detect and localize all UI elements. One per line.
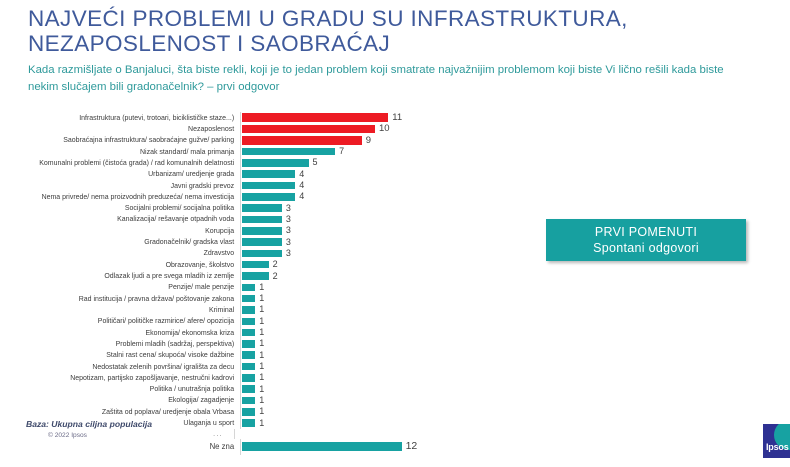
bar-row: Zaštita od poplava/ uredjenje obala Vrba… [0, 406, 560, 417]
bar-track: 3 [240, 214, 560, 225]
bar-value: 1 [259, 339, 264, 348]
bar-track: 1 [240, 384, 560, 395]
bar-track: 2 [240, 270, 560, 281]
bar-row: Urbanizam/ uredjenje grada4 [0, 169, 560, 180]
bar-track: 9 [240, 135, 560, 146]
bar-row: Nepotizam, partijsko zapošljavanje, nest… [0, 372, 560, 383]
bar-value: 1 [259, 283, 264, 292]
bar-track: 1 [240, 350, 560, 361]
bar-fill [242, 216, 282, 224]
bar-value: 4 [299, 192, 304, 201]
bar-row: Ekonomija/ ekonomska kriza1 [0, 327, 560, 338]
bar-label: Ekonomija/ ekonomska kriza [7, 329, 240, 337]
bar-fill [242, 261, 269, 269]
bar-label: Korupcija [7, 227, 240, 235]
bar-value: 10 [379, 124, 390, 133]
bar-row: Kriminal1 [0, 304, 560, 315]
bar-label: Zdravstvo [7, 249, 240, 257]
bar-row: Kanalizacija/ rešavanje otpadnih voda3 [0, 214, 560, 225]
bar-track: 3 [240, 225, 560, 236]
bar-value: 1 [259, 294, 264, 303]
bar-row: Komunalni problemi (čistoća grada) / rad… [0, 157, 560, 168]
bar-fill [242, 125, 375, 134]
bar-row: Stalni rast cena/ skupoća/ visoke dažbin… [0, 350, 560, 361]
bar-fill [242, 250, 282, 258]
slide-header: NAJVEĆI PROBLEMI U GRADU SU INFRASTRUKTU… [28, 6, 768, 96]
bar-value: 4 [299, 181, 304, 190]
bar-label: Kriminal [7, 306, 240, 314]
copyright-note: © 2022 Ipsos [48, 432, 152, 439]
bar-value: 1 [259, 362, 264, 371]
bar-value: 1 [259, 419, 264, 428]
bar-row: Gradonačelnik/ gradska vlast3 [0, 236, 560, 247]
bar-value: 12 [406, 442, 418, 451]
bar-fill [242, 148, 335, 156]
base-note: Baza: Ukupna ciljna populacija [26, 419, 152, 429]
bar-label: Infrastruktura (putevi, trotoari, bicikl… [7, 114, 240, 122]
bar-label: Penzije/ male penzije [7, 283, 240, 291]
bar-label: Nema privrede/ nema proizvodnih preduzeć… [7, 193, 240, 201]
bar-row: Obrazovanje, školstvo2 [0, 259, 560, 270]
bar-track: 1 [240, 372, 560, 383]
bar-row: Rad institucija / pravna država/ poštova… [0, 293, 560, 304]
bar-value: 3 [286, 204, 291, 213]
bar-row: Nema privrede/ nema proizvodnih preduzeć… [0, 191, 560, 202]
bar-track: 5 [240, 157, 560, 168]
bar-value: 2 [273, 260, 278, 269]
bar-track: 1 [240, 316, 560, 327]
bar-row: Infrastruktura (putevi, trotoari, bicikl… [0, 112, 560, 123]
bar-fill [242, 272, 269, 280]
bar-track: 3 [240, 236, 560, 247]
bar-label: Saobraćajna infrastruktura/ saobraćajne … [7, 136, 240, 144]
bar-track: 11 [240, 112, 560, 123]
bar-value: 11 [392, 113, 402, 122]
bar-value: 1 [259, 407, 264, 416]
bar-label: Nizak standard/ mala primanja [7, 148, 240, 156]
bar-track: 1 [240, 293, 560, 304]
bar-fill [242, 113, 388, 122]
bar-row: Problemi mladih (sadržaj, perspektiva)1 [0, 338, 560, 349]
bar-value: 1 [259, 396, 264, 405]
callout-line-2: Spontani odgovori [593, 240, 699, 256]
bar-label: Javni gradski prevoz [7, 182, 240, 190]
bar-label: Nepotizam, partijsko zapošljavanje, nest… [7, 374, 240, 382]
bar-fill [242, 340, 255, 348]
bar-track: 1 [240, 338, 560, 349]
bar-track: 12 [240, 439, 560, 455]
bar-label: Gradonačelnik/ gradska vlast [7, 238, 240, 246]
bar-label: Obrazovanje, školstvo [7, 261, 240, 269]
bar-fill [242, 329, 255, 337]
bar-value: 2 [273, 272, 278, 281]
bar-fill [242, 193, 295, 201]
bar-fill [242, 182, 295, 190]
bar-track: 7 [240, 146, 560, 157]
bar-track: 1 [240, 417, 560, 428]
bar-fill [242, 227, 282, 235]
bar-fill [242, 374, 255, 382]
bar-value: 7 [339, 147, 344, 156]
bar-label: Stalni rast cena/ skupoća/ visoke dažbin… [7, 351, 240, 359]
bar-label: Socijalni problemi/ socijalna politika [7, 204, 240, 212]
bar-track: 3 [240, 248, 560, 259]
bar-fill [242, 295, 255, 303]
bar-fill [242, 159, 309, 167]
bar-fill [242, 306, 255, 314]
bar-track: 2 [240, 259, 560, 270]
bar-row: Nezaposlenost10 [0, 123, 560, 134]
bar-fill [242, 351, 255, 359]
bar-label: Ne zna [7, 443, 240, 451]
bar-value: 1 [259, 305, 264, 314]
axis-break-dots: ... [213, 429, 223, 438]
bar-row-dont-know: Ne zna12 [0, 439, 560, 455]
bar-row: Nizak standard/ mala primanja7 [0, 146, 560, 157]
bar-track: 1 [240, 406, 560, 417]
page-title: NAJVEĆI PROBLEMI U GRADU SU INFRASTRUKTU… [28, 6, 768, 56]
bar-row: Korupcija3 [0, 225, 560, 236]
bar-value: 3 [286, 238, 291, 247]
bar-track: 4 [240, 169, 560, 180]
bar-track: 1 [240, 361, 560, 372]
bar-row: Zdravstvo3 [0, 248, 560, 259]
ipsos-logo: Ipsos [763, 424, 790, 458]
bar-value: 3 [286, 215, 291, 224]
bar-label: Problemi mladih (sadržaj, perspektiva) [7, 340, 240, 348]
bar-fill [242, 170, 295, 178]
bar-row: Nedostatak zelenih površina/ igrališta z… [0, 361, 560, 372]
bar-value: 3 [286, 249, 291, 258]
bar-row: Politika / unutrašnja politika1 [0, 384, 560, 395]
bar-value: 1 [259, 351, 264, 360]
bar-fill [242, 419, 255, 427]
bar-track: 4 [240, 191, 560, 202]
bar-fill [242, 397, 255, 405]
bar-row: Socijalni problemi/ socijalna politika3 [0, 203, 560, 214]
bar-value: 1 [259, 373, 264, 382]
bar-label: Rad institucija / pravna država/ poštova… [7, 295, 240, 303]
axis-break-track: ... [234, 429, 560, 439]
bar-track: 4 [240, 180, 560, 191]
bar-track: 1 [240, 395, 560, 406]
bar-fill [242, 238, 282, 246]
bar-track: 1 [240, 304, 560, 315]
bar-chart: Infrastruktura (putevi, trotoari, bicikl… [0, 112, 790, 444]
callout-line-1: PRVI POMENUTI [595, 224, 697, 240]
bar-row: Političari/ političke razmirice/ afere/ … [0, 316, 560, 327]
bar-label: Ekologija/ zagadjenje [7, 396, 240, 404]
bar-value: 1 [259, 317, 264, 326]
bar-value: 3 [286, 226, 291, 235]
bar-fill [242, 136, 362, 145]
bar-value: 9 [366, 136, 371, 145]
bar-track: 10 [240, 123, 560, 134]
page-subtitle: Kada razmišljate o Banjaluci, šta biste … [28, 62, 728, 96]
bar-fill [242, 442, 402, 451]
bar-label: Zaštita od poplava/ uredjenje obala Vrba… [7, 408, 240, 416]
bar-label: Odlazak ljudi a pre svega mladih iz zeml… [7, 272, 240, 280]
bar-track: 1 [240, 282, 560, 293]
bar-row: Odlazak ljudi a pre svega mladih iz zeml… [0, 270, 560, 281]
bar-track: 3 [240, 203, 560, 214]
bar-value: 5 [313, 158, 318, 167]
bar-label: Urbanizam/ uredjenje grada [7, 170, 240, 178]
bar-track: 1 [240, 327, 560, 338]
bar-label: Nezaposlenost [7, 125, 240, 133]
bar-row: Ekologija/ zagadjenje1 [0, 395, 560, 406]
bar-row: Saobraćajna infrastruktura/ saobraćajne … [0, 135, 560, 146]
bar-label: Politika / unutrašnja politika [7, 385, 240, 393]
bar-fill [242, 408, 255, 416]
bar-label: Kanalizacija/ rešavanje otpadnih voda [7, 215, 240, 223]
slide-footer: Baza: Ukupna ciljna populacija © 2022 Ip… [26, 419, 152, 439]
bar-value: 4 [299, 170, 304, 179]
bar-label: Komunalni problemi (čistoća grada) / rad… [7, 159, 240, 167]
bar-label: Političari/ političke razmirice/ afere/ … [7, 317, 240, 325]
bar-value: 1 [259, 385, 264, 394]
bar-fill [242, 363, 255, 371]
bar-fill [242, 318, 255, 326]
bar-label: Nedostatak zelenih površina/ igrališta z… [7, 363, 240, 371]
bar-fill [242, 385, 255, 393]
bar-row: Javni gradski prevoz4 [0, 180, 560, 191]
bar-fill [242, 204, 282, 212]
bar-chart-rows: Infrastruktura (putevi, trotoari, bicikl… [0, 112, 560, 455]
slide-canvas: NAJVEĆI PROBLEMI U GRADU SU INFRASTRUKTU… [0, 0, 790, 467]
bar-fill [242, 284, 255, 292]
bar-row: Penzije/ male penzije1 [0, 282, 560, 293]
callout-box: PRVI POMENUTI Spontani odgovori [546, 219, 746, 261]
logo-text: Ipsos [766, 442, 789, 452]
bar-value: 1 [259, 328, 264, 337]
